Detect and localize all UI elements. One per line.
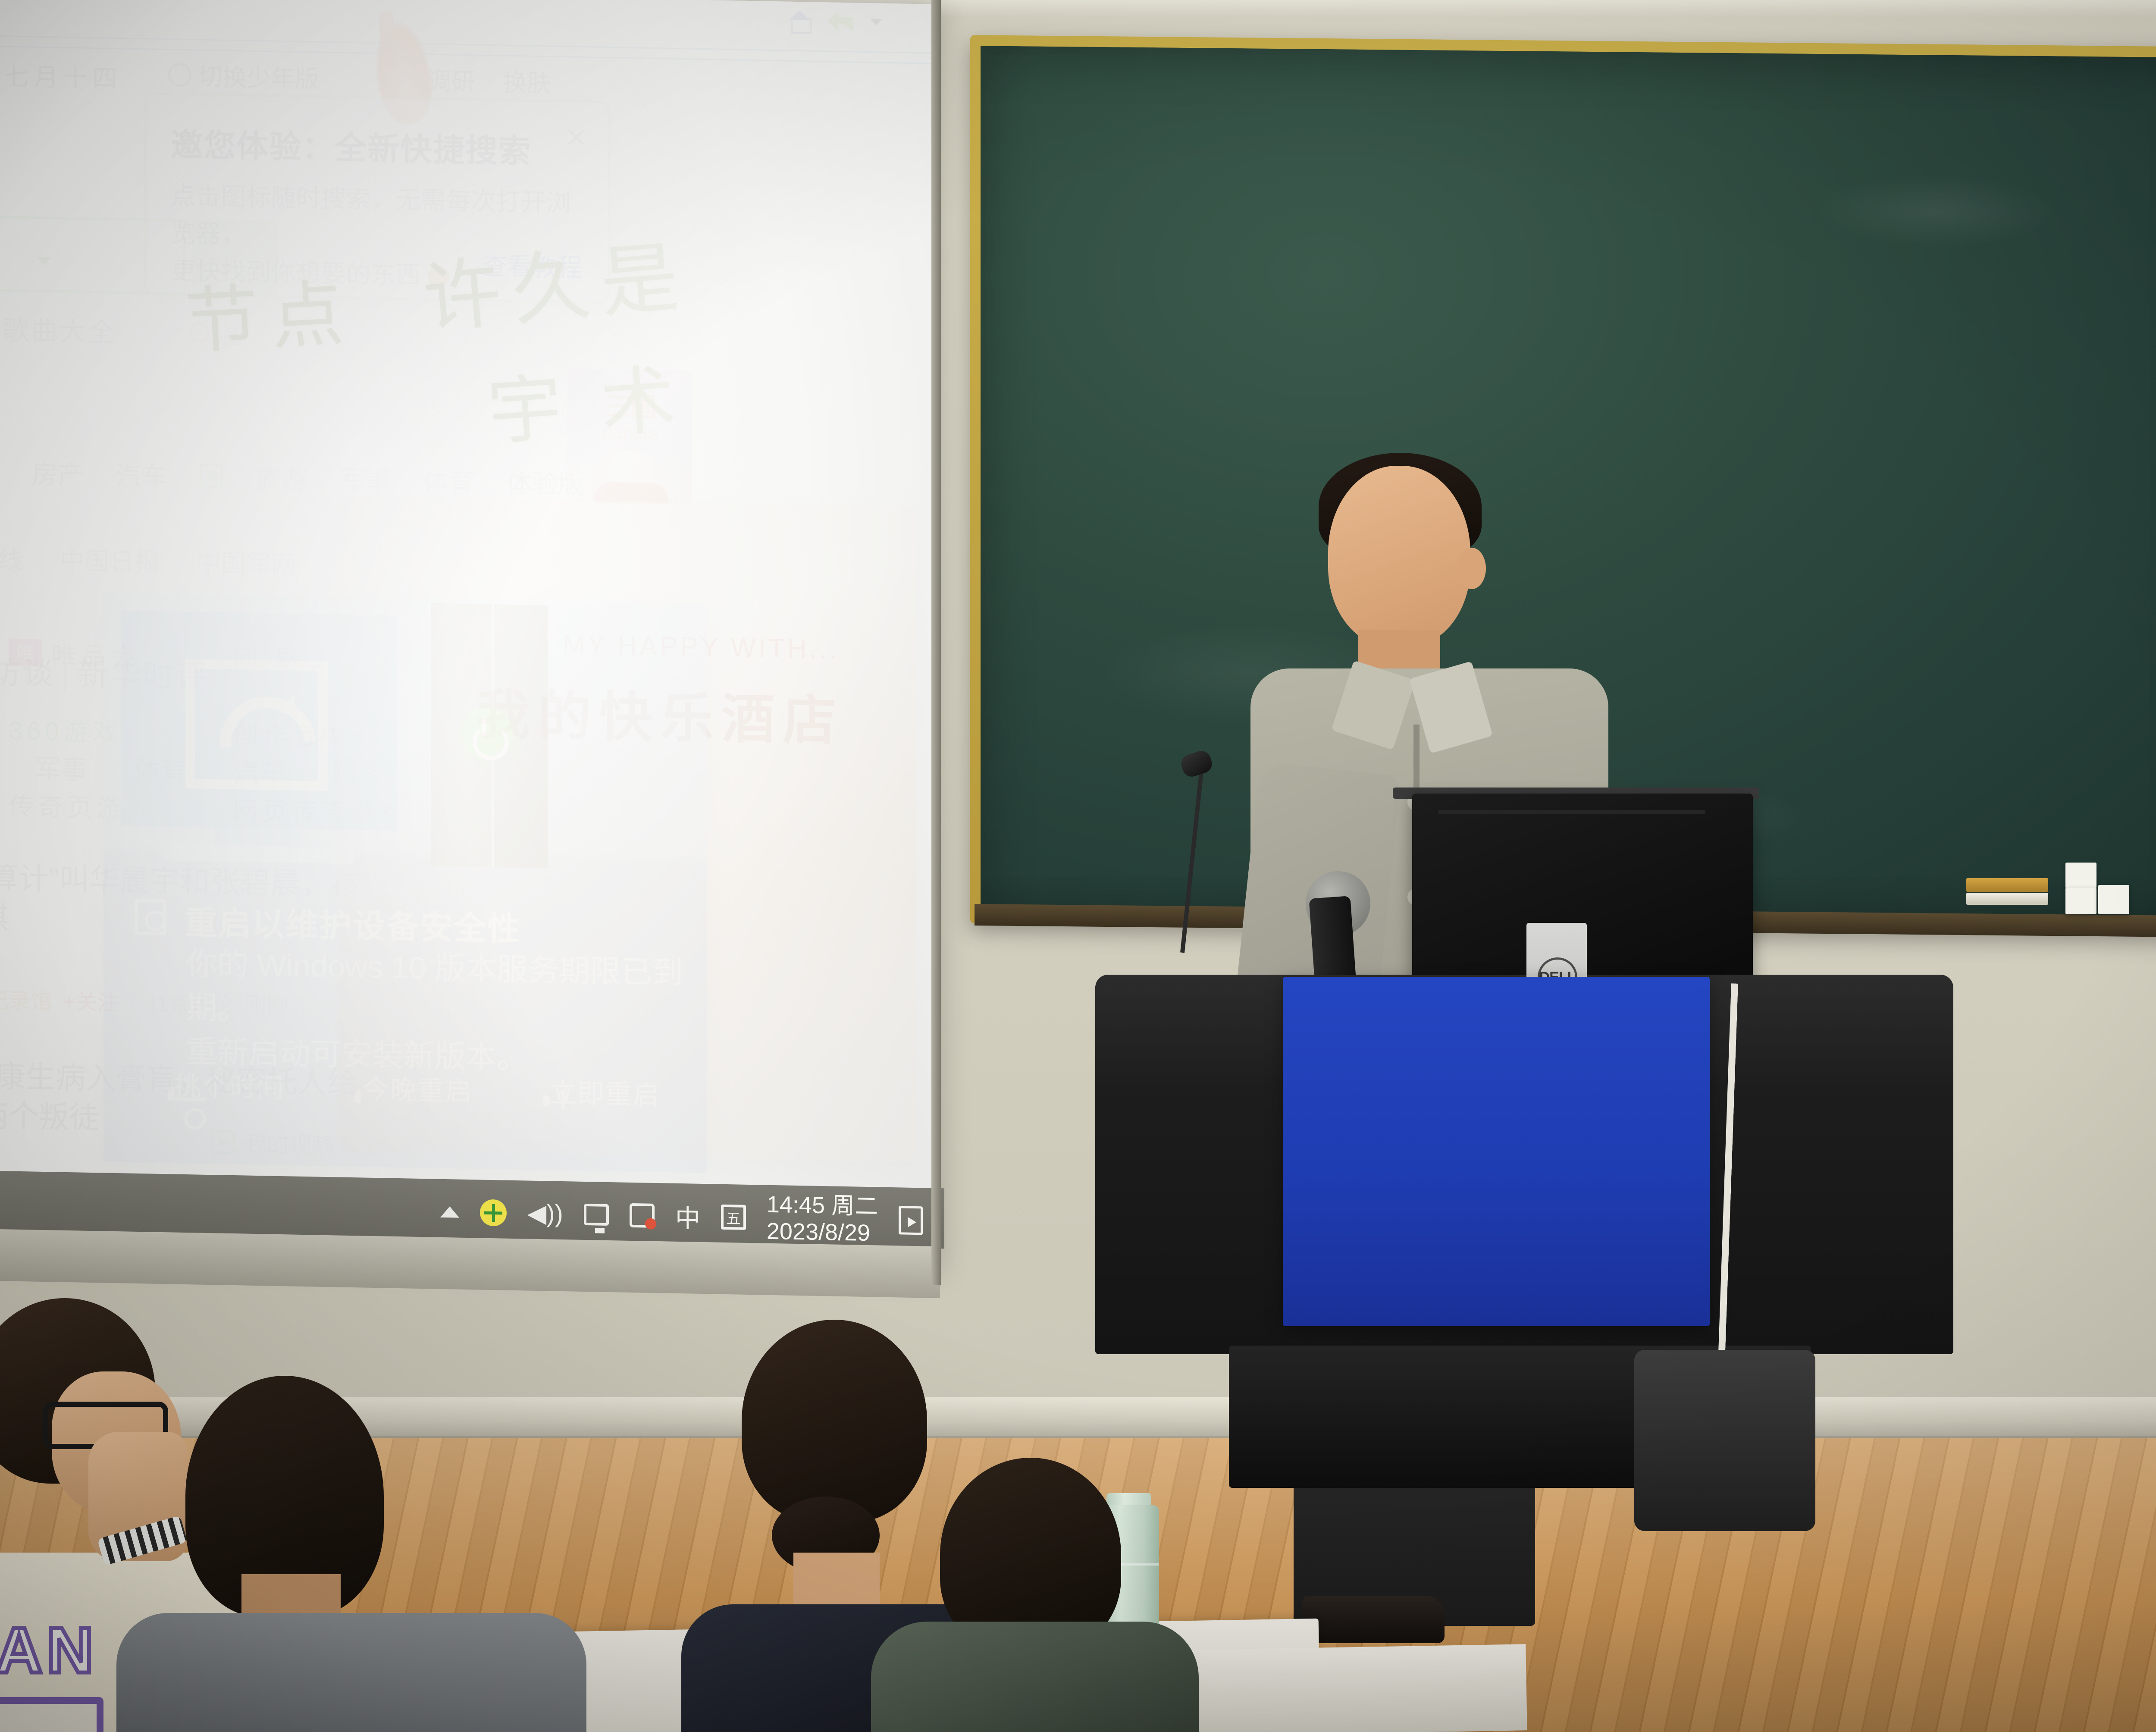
update-body-line1: 你的 Windows 10 版本服务期限已到期。 xyxy=(186,947,683,1026)
show-desktop-icon[interactable] xyxy=(899,1206,923,1235)
taskbar-system-tray[interactable]: ◀)) 中 五 14:45 周二 2023/8/29 xyxy=(440,1185,923,1248)
taskbar-time: 14:45 周二 xyxy=(767,1192,878,1220)
kid-mode-toggle[interactable]: 切换少年版 xyxy=(168,57,319,94)
browser-divider-1 xyxy=(0,35,940,54)
nav-item-auto[interactable]: 汽车 xyxy=(116,455,167,493)
browser-toolbar[interactable] xyxy=(789,10,882,33)
chalk-text-line-3: 宇 术 xyxy=(484,338,689,459)
volume-icon[interactable]: ◀)) xyxy=(527,1200,563,1228)
home-icon[interactable] xyxy=(789,10,810,31)
recommend-window-titlebar: 360推荐 xyxy=(356,517,495,559)
power-button-graphic xyxy=(461,707,513,760)
calendar-pick-icon xyxy=(168,1086,174,1100)
update-dialog-heading: 重启以维护设备安全性 xyxy=(185,896,521,950)
lecture-hall-scene: 七月十四 切换少年版 费 调研 换肤 9 网歌曲大全 xyxy=(0,0,2156,1732)
chalk-box-2 xyxy=(2065,888,2096,914)
top-link-2[interactable]: 换肤 xyxy=(503,63,551,99)
search-dropdown-icon[interactable] xyxy=(37,257,51,266)
recommend-window-controls[interactable]: ⌄ ✕ xyxy=(830,525,898,557)
news-head-left: 点访谈 xyxy=(0,655,55,691)
nav-row-2[interactable]: 际在线 中国日报 中国军网 xyxy=(0,538,296,581)
nav2-item-chinadaily[interactable]: 中国日报 xyxy=(60,540,160,578)
chalk-text-line-1: 节点 xyxy=(183,254,359,368)
restart-now-button[interactable]: 立即重启 xyxy=(530,1071,673,1112)
projector-screen-right-edge xyxy=(931,0,941,1285)
presenter-head xyxy=(1328,466,1470,647)
monitor-vent xyxy=(1438,810,1705,814)
chevron-down-icon[interactable]: ⌄ xyxy=(830,525,851,556)
power-icon xyxy=(543,1093,550,1107)
360-safe-icon[interactable] xyxy=(480,1199,507,1227)
security-shield-icon xyxy=(135,899,166,935)
chair-behind-podium xyxy=(1634,1350,1815,1531)
monitor-stand-graphic xyxy=(215,828,301,847)
refresh-icon xyxy=(185,659,328,791)
update-monitor-graphic xyxy=(121,610,397,831)
lunar-date-label: 七月十四 xyxy=(4,56,122,94)
chevron-up-icon[interactable] xyxy=(440,1206,459,1218)
ime-mode-label[interactable]: 五 xyxy=(721,1205,746,1230)
security-shield-icon[interactable] xyxy=(630,1203,655,1228)
back-arrow-icon[interactable] xyxy=(827,12,853,31)
ime-language-label[interactable]: 中 xyxy=(675,1198,700,1235)
network-icon[interactable] xyxy=(584,1204,609,1226)
nav-item-travel[interactable]: 旅游 xyxy=(255,458,307,496)
kid-mode-icon xyxy=(168,63,191,87)
presenter-shoe xyxy=(1302,1596,1445,1643)
restart-tonight-label: 今晚重启 xyxy=(362,1075,473,1107)
nav2-item-online[interactable]: 际在线 xyxy=(0,538,23,576)
top-link-1[interactable]: 调研 xyxy=(427,62,475,97)
chalkboard-eraser-1 xyxy=(1966,878,2048,892)
student-4-body xyxy=(871,1622,1199,1732)
podium-front-panel: JILIN UNIVERSITY · CHINA 1946 吉林大学 xyxy=(1283,977,1710,1326)
nav-item-military[interactable]: 军事 xyxy=(339,459,391,498)
kid-mode-label: 切换少年版 xyxy=(198,58,319,95)
chalkboard-eraser-2 xyxy=(1966,893,2048,905)
nav-row-1[interactable]: 银行 房产 汽车 旅游 军事 体育 体验版 xyxy=(0,452,584,501)
clock-restart-icon xyxy=(355,1089,362,1104)
update-dialog-body: 你的 Windows 10 版本服务期限已到期。 重新启动可安装新版本。 xyxy=(186,942,695,1083)
restart-tonight-button[interactable]: 今晚重启 xyxy=(343,1067,485,1109)
browser-divider-2 xyxy=(0,46,940,64)
presenter-ear xyxy=(1457,548,1486,589)
close-icon[interactable]: ✕ xyxy=(877,526,898,557)
monitor-base-graphic xyxy=(164,844,354,864)
chalk-text-line-2: 许久是 xyxy=(418,213,693,348)
pick-time-button[interactable]: 挑个时间 xyxy=(155,1064,298,1105)
chevron-down-icon[interactable] xyxy=(870,19,882,26)
tab-military[interactable]: 军事 xyxy=(34,747,88,787)
chalk-box-3 xyxy=(2098,885,2129,914)
update-dialog-heading-row: 重启以维护设备安全性 xyxy=(135,895,521,950)
taskbar-clock[interactable]: 14:45 周二 2023/8/29 xyxy=(767,1191,878,1247)
nav-item-sports[interactable]: 体育 xyxy=(423,461,474,499)
recommend-window-title: 360推荐 xyxy=(394,518,495,559)
windows-update-dialog[interactable]: 重启以维护设备安全性 你的 Windows 10 版本服务期限已到期。 重新启动… xyxy=(103,593,707,1173)
student-1-jersey-text: AN xyxy=(0,1613,98,1688)
qr-code-icon[interactable] xyxy=(199,463,223,488)
projector-screen: 七月十四 切换少年版 费 调研 换肤 9 网歌曲大全 xyxy=(0,0,940,1272)
quick-link-music[interactable]: 网歌曲大全 xyxy=(0,308,116,349)
nav-item-realestate[interactable]: 房产 xyxy=(32,453,84,492)
restart-now-label: 立即重启 xyxy=(550,1078,660,1110)
chalk-box-1 xyxy=(2065,863,2096,888)
taskbar-date: 2023/8/29 xyxy=(767,1218,870,1246)
student-1-jersey-number-panel xyxy=(0,1697,103,1732)
360-logo-icon xyxy=(356,522,384,551)
student-2-chair-back xyxy=(116,1613,586,1732)
close-icon[interactable]: ✕ xyxy=(564,121,588,155)
student-3-head xyxy=(742,1320,927,1522)
article-1-source[interactable]: 影记录馆 xyxy=(0,983,52,1016)
nav2-item-chinamil[interactable]: 中国军网 xyxy=(196,543,296,580)
search-tip-title: 邀您体验：全新快捷搜索 xyxy=(171,119,531,172)
